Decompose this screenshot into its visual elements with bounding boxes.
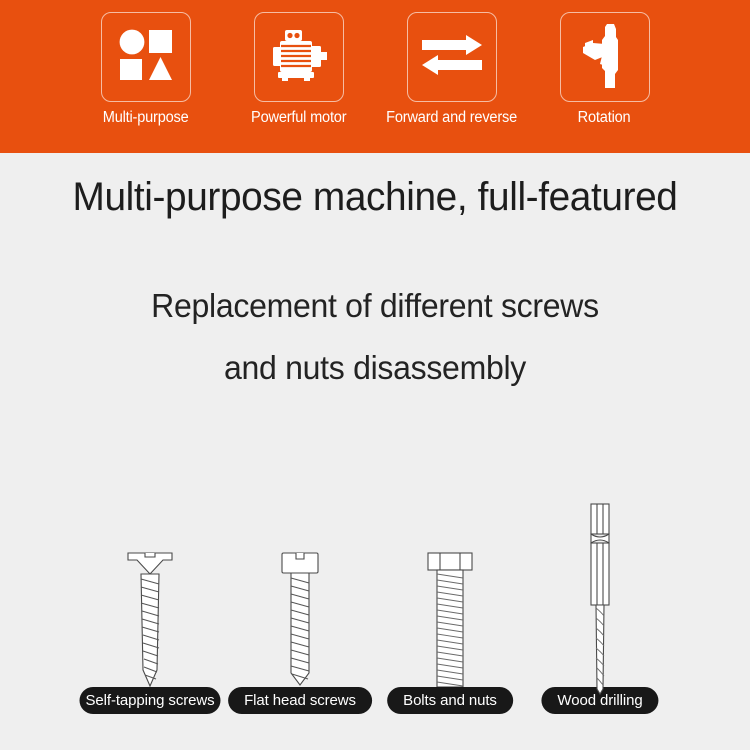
drill-bit-icon <box>569 502 631 702</box>
subheadline-line-1: Replacement of different screws <box>11 275 739 337</box>
feature-banner: Multi-purpose <box>0 0 750 153</box>
feature-label: Rotation <box>578 110 631 126</box>
fastener-art <box>75 547 225 702</box>
page-subheadline: Replacement of different screws and nuts… <box>11 275 739 399</box>
feature-label: Powerful motor <box>251 110 346 126</box>
subheadline-line-2: and nuts disassembly <box>11 337 739 399</box>
electric-motor-icon <box>270 28 328 87</box>
fastener-label: Self-tapping screws <box>80 687 221 714</box>
fastener-art <box>525 502 675 702</box>
feature-icon-box <box>101 12 191 102</box>
fastener-art <box>375 547 525 702</box>
shapes-grid-icon <box>119 29 173 86</box>
fastener-art <box>225 547 375 702</box>
fastener-label: Flat head screws <box>228 687 372 714</box>
fastener-item-wood-drilling[interactable]: Wood drilling <box>525 495 675 720</box>
hex-bolt-icon <box>419 547 481 702</box>
countersunk-screw-icon <box>119 547 181 702</box>
bidirectional-arrows-icon <box>422 35 482 80</box>
feature-icon-box <box>254 12 344 102</box>
page-headline: Multi-purpose machine, full-featured <box>11 175 739 220</box>
feature-label: Multi-purpose <box>103 110 189 126</box>
hand-holding-drill-icon <box>581 22 629 93</box>
feature-label: Forward and reverse <box>386 110 517 126</box>
feature-icon-box <box>407 12 497 102</box>
fastener-label: Bolts and nuts <box>387 687 513 714</box>
fastener-item-bolts-and-nuts[interactable]: Bolts and nuts <box>375 495 525 720</box>
feature-item-multi-purpose[interactable]: Multi-purpose <box>69 0 222 126</box>
feature-item-rotation[interactable]: Rotation <box>528 0 681 126</box>
feature-item-forward-and-reverse[interactable]: Forward and reverse <box>375 0 528 126</box>
feature-list: Multi-purpose <box>0 0 750 153</box>
feature-icon-box <box>560 12 650 102</box>
flat-head-screw-icon <box>269 547 331 702</box>
fastener-item-flat-head-screws[interactable]: Flat head screws <box>225 495 375 720</box>
fastener-showcase: Self-tapping screws <box>0 495 750 720</box>
fastener-item-self-tapping-screws[interactable]: Self-tapping screws <box>75 495 225 720</box>
feature-item-powerful-motor[interactable]: Powerful motor <box>222 0 375 126</box>
